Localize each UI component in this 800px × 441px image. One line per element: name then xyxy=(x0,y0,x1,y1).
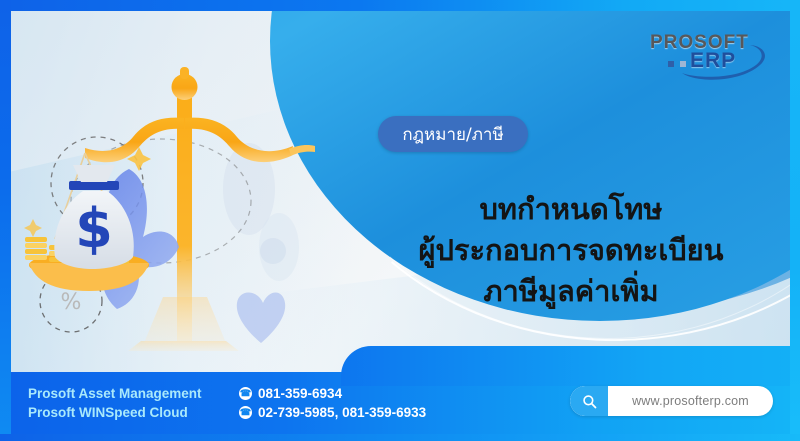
headline: บทกำหนดโทษ ผู้ประกอบการจดทะเบียน ภาษีมูล… xyxy=(381,189,761,313)
phone-icon: ☎ xyxy=(239,406,252,419)
banner-card: PROSOFT ERP xyxy=(11,11,790,434)
footer-product-row: Prosoft Asset Management xyxy=(28,384,202,403)
logo-square-dot-2 xyxy=(680,61,686,67)
website-url: www.prosofterp.com xyxy=(608,394,773,408)
prosoft-erp-logo: PROSOFT ERP xyxy=(644,29,774,81)
logo-secondary-text: ERP xyxy=(690,49,736,73)
search-button[interactable] xyxy=(570,386,608,416)
footer-bar: Prosoft Asset Management Prosoft WINSpee… xyxy=(11,372,790,434)
footer-phone-1[interactable]: 081-359-6934 xyxy=(258,384,342,403)
frame-bottom xyxy=(0,434,800,441)
dollar-symbol: $ xyxy=(75,197,113,260)
percent-symbol: % xyxy=(61,290,82,315)
logo-square-dot-1 xyxy=(668,61,674,67)
footer-phone-row: ☎ 081-359-6934 xyxy=(239,384,426,403)
footer-product-list: Prosoft Asset Management Prosoft WINSpee… xyxy=(28,384,202,422)
tax-scale-illustration: % xyxy=(11,51,341,381)
phone-icon: ☎ xyxy=(239,387,252,400)
footer-phone-2[interactable]: 02-739-5985, 081-359-6933 xyxy=(258,403,426,422)
category-badge[interactable]: กฎหมาย/ภาษี xyxy=(378,116,528,152)
footer-notch xyxy=(341,346,790,386)
headline-line-3: ภาษีมูลค่าเพิ่ม xyxy=(381,271,761,312)
frame-top xyxy=(0,0,800,11)
footer-product-label-2: Prosoft WINSpeed Cloud xyxy=(28,403,188,422)
footer-product-label-1: Prosoft Asset Management xyxy=(28,384,202,403)
footer-phone-row: ☎ 02-739-5985, 081-359-6933 xyxy=(239,403,426,422)
footer-phone-list: ☎ 081-359-6934 ☎ 02-739-5985, 081-359-69… xyxy=(239,384,426,422)
promo-banner: PROSOFT ERP xyxy=(0,0,800,441)
headline-line-2: ผู้ประกอบการจดทะเบียน xyxy=(381,230,761,271)
website-search-pill[interactable]: www.prosofterp.com xyxy=(570,386,773,416)
frame-right xyxy=(790,0,800,441)
footer-product-row: Prosoft WINSpeed Cloud xyxy=(28,403,202,422)
search-icon xyxy=(582,394,597,409)
frame-left xyxy=(0,0,11,441)
headline-line-1: บทกำหนดโทษ xyxy=(381,189,761,230)
